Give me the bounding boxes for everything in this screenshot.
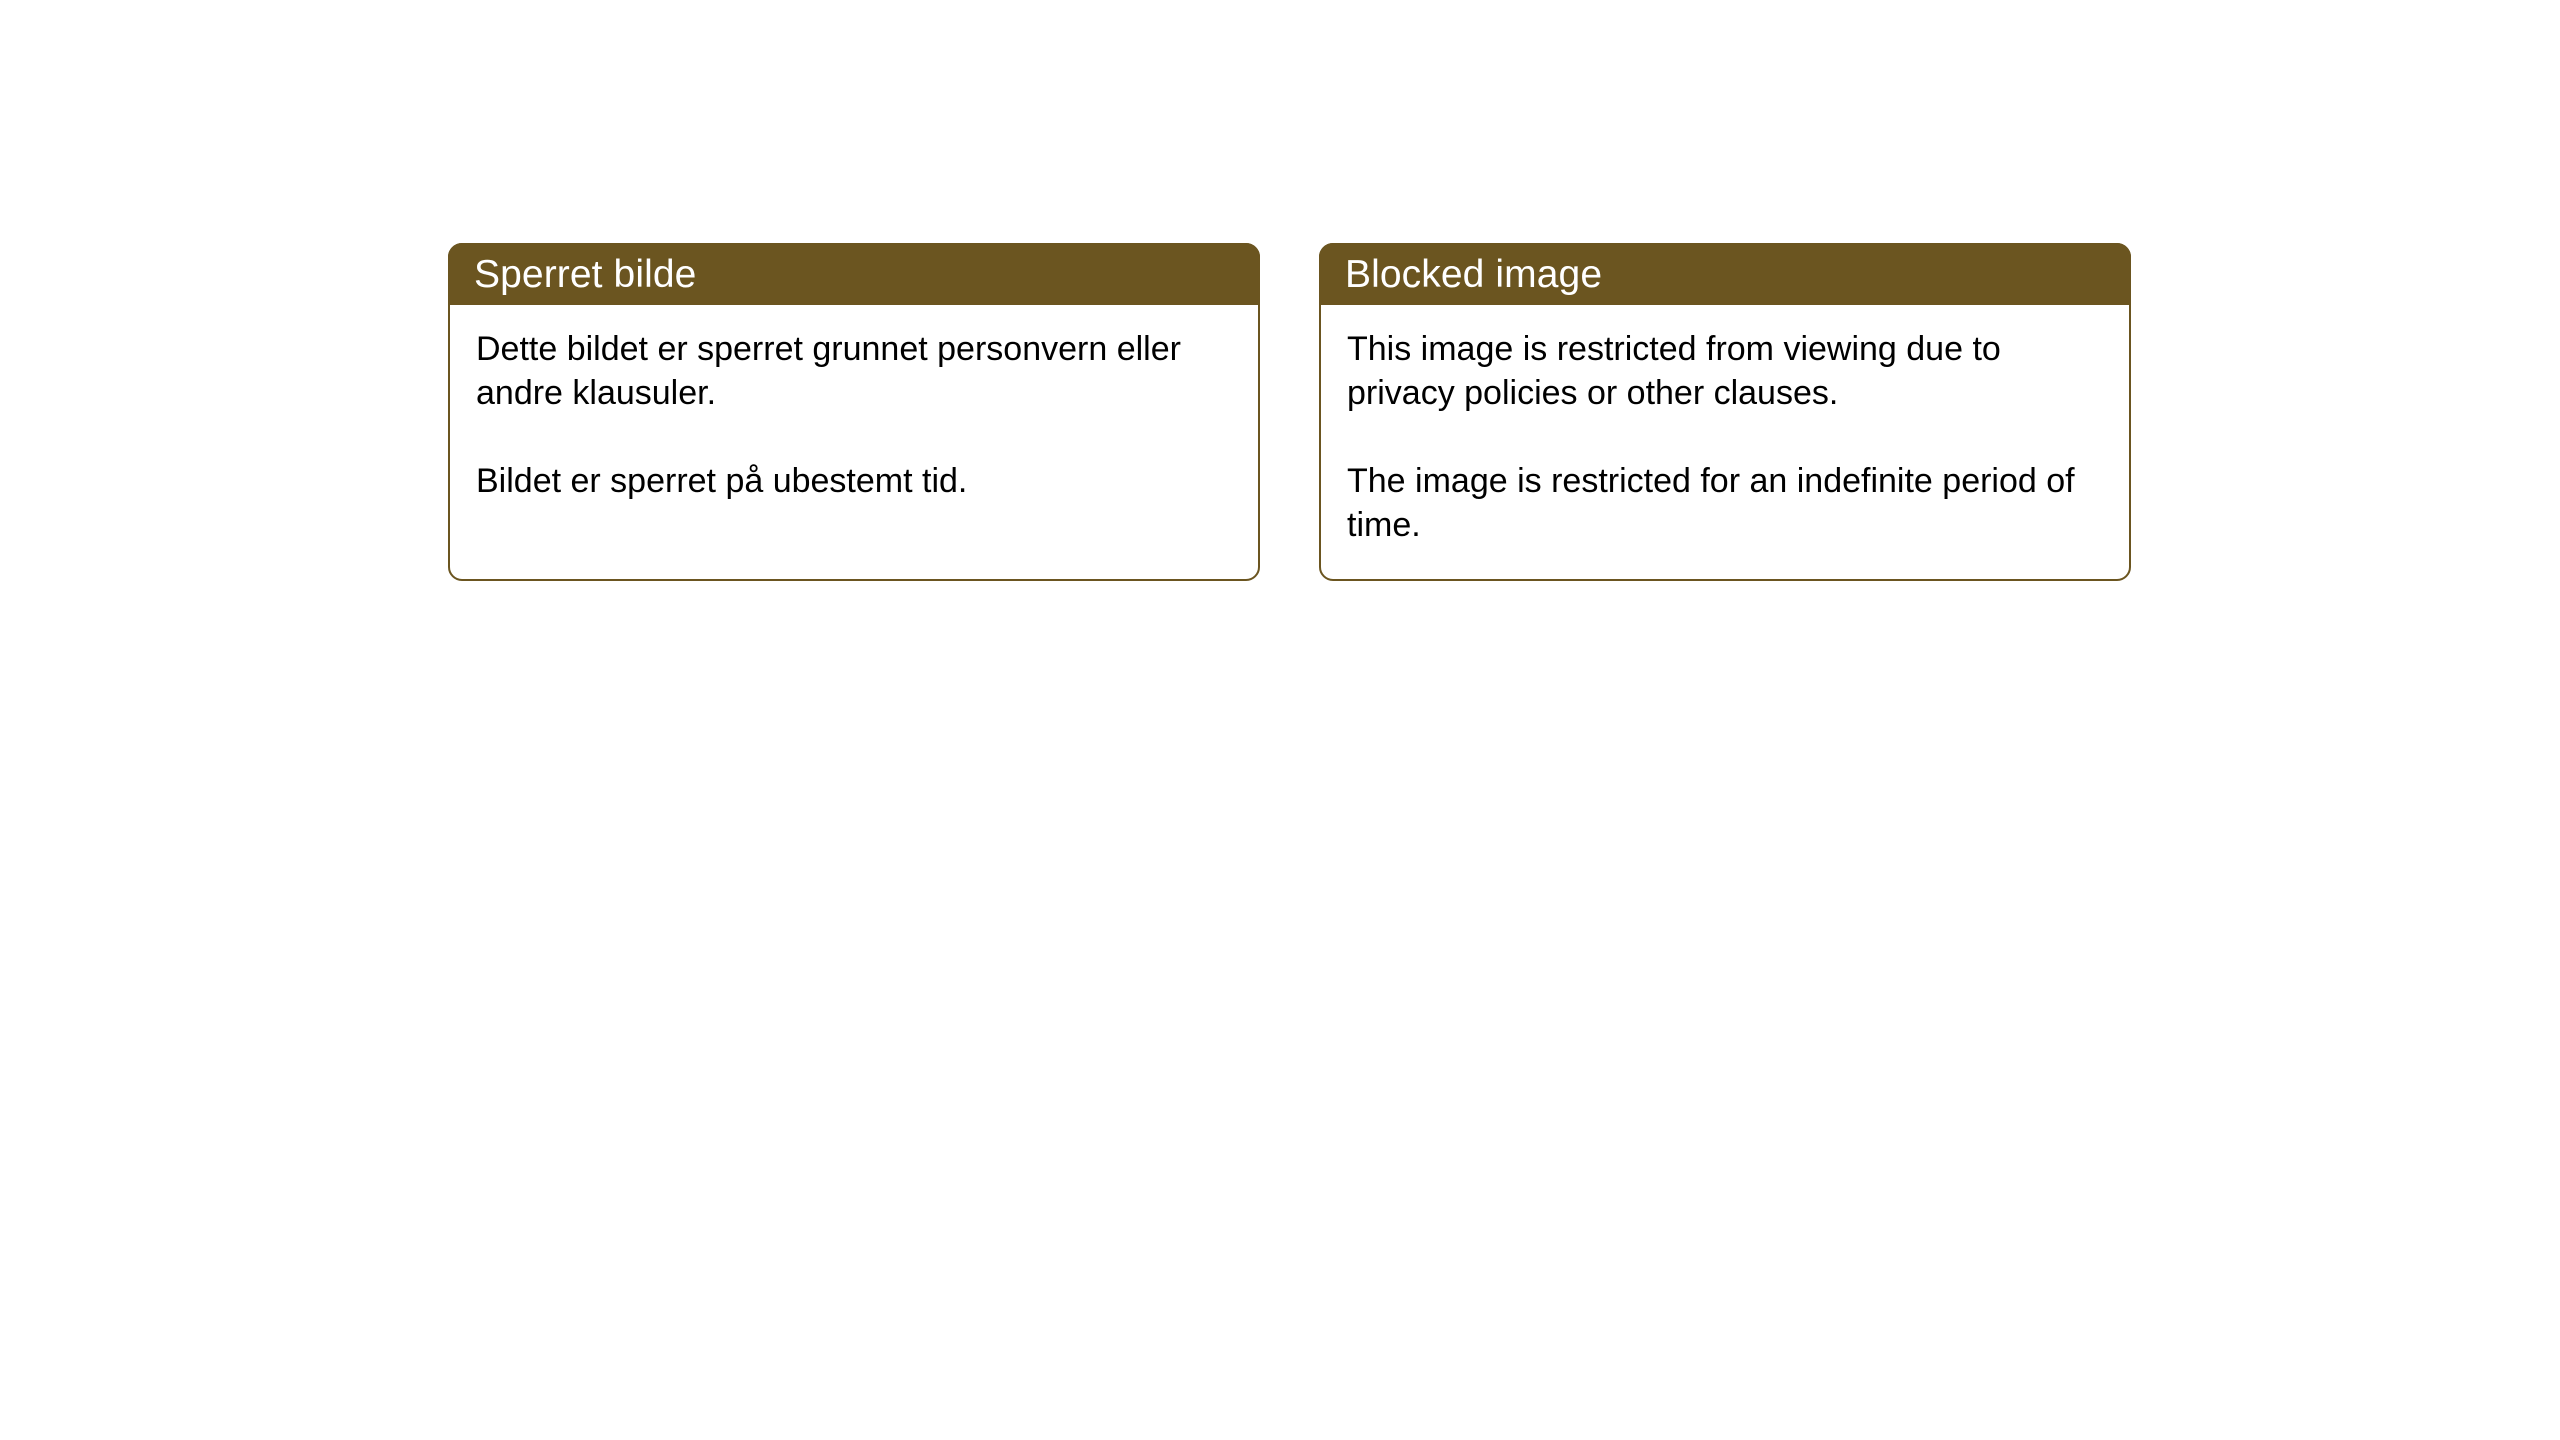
- blocked-image-notice-en: Blocked image This image is restricted f…: [1319, 243, 2131, 581]
- panel-header-no: Sperret bilde: [448, 243, 1260, 305]
- panel-body-no: Dette bildet er sperret grunnet personve…: [450, 305, 1258, 579]
- notice-paragraph-primary-en: This image is restricted from viewing du…: [1347, 327, 2105, 415]
- panel-title-en: Blocked image: [1319, 255, 1602, 294]
- notice-paragraph-secondary-no: Bildet er sperret på ubestemt tid.: [476, 459, 1234, 503]
- notice-paragraph-primary-no: Dette bildet er sperret grunnet personve…: [476, 327, 1234, 415]
- page-root: Sperret bilde Dette bildet er sperret gr…: [0, 0, 2560, 1440]
- blocked-image-notice-no: Sperret bilde Dette bildet er sperret gr…: [448, 243, 1260, 581]
- panel-header-en: Blocked image: [1319, 243, 2131, 305]
- panel-body-en: This image is restricted from viewing du…: [1321, 305, 2129, 579]
- notice-paragraph-secondary-en: The image is restricted for an indefinit…: [1347, 459, 2105, 547]
- panel-title-no: Sperret bilde: [448, 255, 696, 294]
